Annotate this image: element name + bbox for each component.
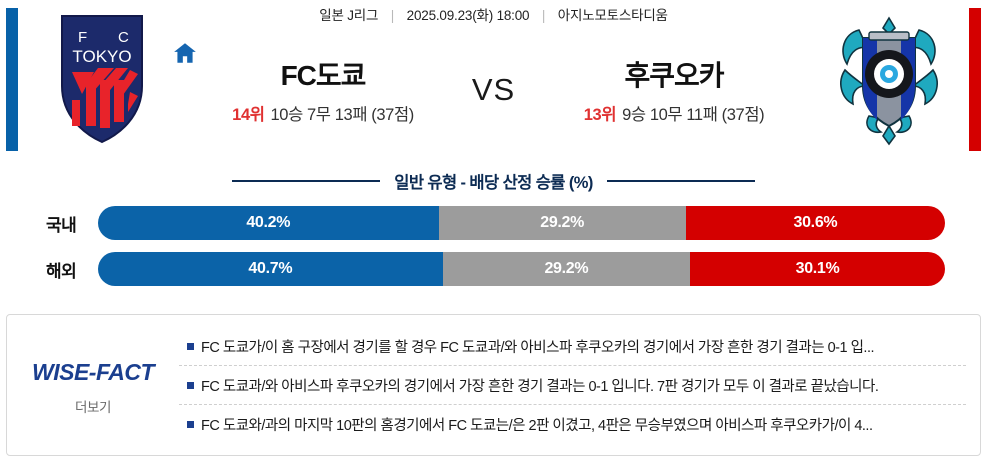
wise-fact-panel: WISE-FACT 더보기 FC 도쿄가/이 홈 구장에서 경기를 할 경우 F… <box>6 314 981 456</box>
list-item[interactable]: FC 도쿄와/과의 마지막 10판의 홈경기에서 FC 도쿄는/은 2판 이겼고… <box>179 405 966 443</box>
fact-text: FC 도쿄와/과의 마지막 10판의 홈경기에서 FC 도쿄는/은 2판 이겼고… <box>201 414 873 435</box>
odds-segment-home[interactable]: 40.2% <box>98 206 439 240</box>
wise-fact-more-link[interactable]: 더보기 <box>75 396 111 416</box>
list-item[interactable]: FC 도쿄가/이 홈 구장에서 경기를 할 경우 FC 도쿄과/와 아비스파 후… <box>179 327 966 366</box>
match-card: 일본 J리그 | 2025.09.23(화) 18:00 | 아지노모토스타디움… <box>0 0 987 158</box>
wise-fact-list: FC 도쿄가/이 홈 구장에서 경기를 할 경우 FC 도쿄과/와 아비스파 후… <box>179 315 980 455</box>
wise-fact-brand-block: WISE-FACT 더보기 <box>7 315 179 455</box>
odds-bar-track: 40.7% 29.2% 30.1% <box>98 252 945 286</box>
league-name: 일본 J리그 <box>319 8 378 23</box>
odds-row-label: 해외 <box>46 257 98 282</box>
odds-section-header: 일반 유형 - 배당 산정 승률 (%) <box>0 164 987 198</box>
bullet-square-icon <box>179 421 201 428</box>
odds-segment-home[interactable]: 40.7% <box>98 252 443 286</box>
odds-segment-draw[interactable]: 29.2% <box>439 206 686 240</box>
fact-text: FC 도쿄과/와 아비스파 후쿠오카의 경기에서 가장 흔한 경기 결과는 0-… <box>201 375 878 396</box>
away-team-name: 후쿠오카 <box>509 60 839 92</box>
away-team-rank: 13위 <box>584 106 616 124</box>
section-rule-left <box>232 180 380 182</box>
svg-text:TOKYO: TOKYO <box>72 47 131 66</box>
odds-section-title: 일반 유형 - 배당 산정 승률 (%) <box>394 169 592 193</box>
odds-row-label: 국내 <box>46 211 98 236</box>
svg-text:C: C <box>118 29 129 46</box>
stadium-name: 아지노모토스타디움 <box>558 8 668 23</box>
away-team-record-line: 13위9승 10무 11패 (37점) <box>509 101 839 125</box>
match-preview-page: 일본 J리그 | 2025.09.23(화) 18:00 | 아지노모토스타디움… <box>0 0 987 446</box>
home-team-record: 10승 7무 13패 (37점) <box>271 106 414 124</box>
bullet-square-icon <box>179 382 201 389</box>
odds-bar-track: 40.2% 29.2% 30.6% <box>98 206 945 240</box>
odds-segment-draw[interactable]: 29.2% <box>443 252 690 286</box>
odds-row-overseas: 해외 40.7% 29.2% 30.1% <box>0 250 987 288</box>
odds-row-domestic: 국내 40.2% 29.2% 30.6% <box>0 204 987 242</box>
wise-fact-logo: WISE-FACT <box>32 359 154 386</box>
meta-separator-1: | <box>382 8 403 23</box>
bullet-square-icon <box>179 343 201 350</box>
svg-text:F: F <box>78 29 87 46</box>
away-team-record: 9승 10무 11패 (37점) <box>622 106 764 124</box>
odds-segment-away[interactable]: 30.6% <box>686 206 945 240</box>
away-team-info: 후쿠오카 13위9승 10무 11패 (37점) <box>509 60 839 125</box>
home-team-rank: 14위 <box>232 106 264 124</box>
section-rule-right <box>607 180 755 182</box>
fact-text: FC 도쿄가/이 홈 구장에서 경기를 할 경우 FC 도쿄과/와 아비스파 후… <box>201 336 874 357</box>
odds-segment-away[interactable]: 30.1% <box>690 252 945 286</box>
list-item[interactable]: FC 도쿄과/와 아비스파 후쿠오카의 경기에서 가장 흔한 경기 결과는 0-… <box>179 366 966 405</box>
match-datetime: 2025.09.23(화) 18:00 <box>407 8 530 23</box>
odds-bars: 국내 40.2% 29.2% 30.6% 해외 40.7% 29.2% 30.1… <box>0 198 987 306</box>
meta-separator-2: | <box>533 8 554 23</box>
